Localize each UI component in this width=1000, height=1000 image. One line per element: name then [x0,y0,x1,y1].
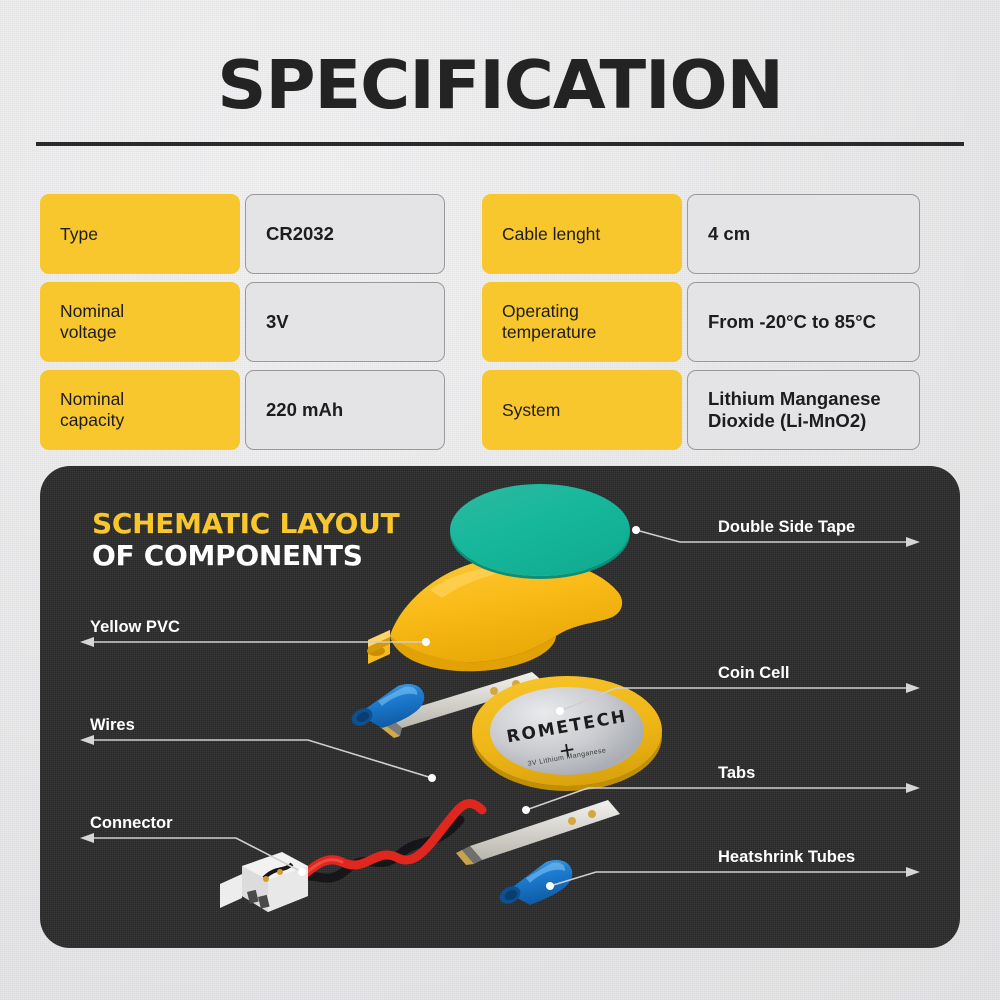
callout-coin-cell: Coin Cell [718,664,790,683]
spec-label-nominal-voltage: Nominal voltage [40,282,240,362]
spec-label-operating-temperature: Operating temperature [482,282,682,362]
spec-value-cable-length: 4 cm [687,194,920,274]
header: SPECIFICATION [0,0,1000,119]
spec-label-type: Type [40,194,240,274]
schematic-layout-panel: SCHEMATIC LAYOUT OF COMPONENTS [40,466,960,948]
jst-connector-icon [220,852,308,912]
heatshrink-tube-upper-icon [338,674,434,738]
column-gap [445,282,482,362]
spec-value-system: Lithium Manganese Dioxide (Li-MnO2) [687,370,920,450]
callout-double-side-tape: Double Side Tape [718,518,855,537]
page-title: SPECIFICATION [0,0,1000,119]
spec-label-cable-length: Cable lenght [482,194,682,274]
spec-label-nominal-capacity: Nominal capacity [40,370,240,450]
callout-wires: Wires [90,716,135,735]
spec-value-operating-temperature: From -20°C to 85°C [687,282,920,362]
spec-value-nominal-capacity: 220 mAh [245,370,445,450]
callout-tabs: Tabs [718,764,755,783]
spec-label-system: System [482,370,682,450]
callout-yellow-pvc: Yellow PVC [90,618,180,637]
coin-cell-face: ROMETECH + 3V Lithium Manganese [490,687,644,775]
product-exploded-illustration: ROMETECH + 3V Lithium Manganese [40,466,960,948]
wires-and-connector-illustration [220,766,520,936]
spec-value-nominal-voltage: 3V [245,282,445,362]
callout-heatshrink-tubes: Heatshrink Tubes [718,848,855,867]
title-divider [36,142,964,146]
column-gap [445,194,482,274]
callout-connector: Connector [90,814,173,833]
double-side-tape-icon [450,484,630,576]
spec-value-type: CR2032 [245,194,445,274]
column-gap [445,370,482,450]
specification-table: Type CR2032 Cable lenght 4 cm Nominal vo… [40,194,960,450]
